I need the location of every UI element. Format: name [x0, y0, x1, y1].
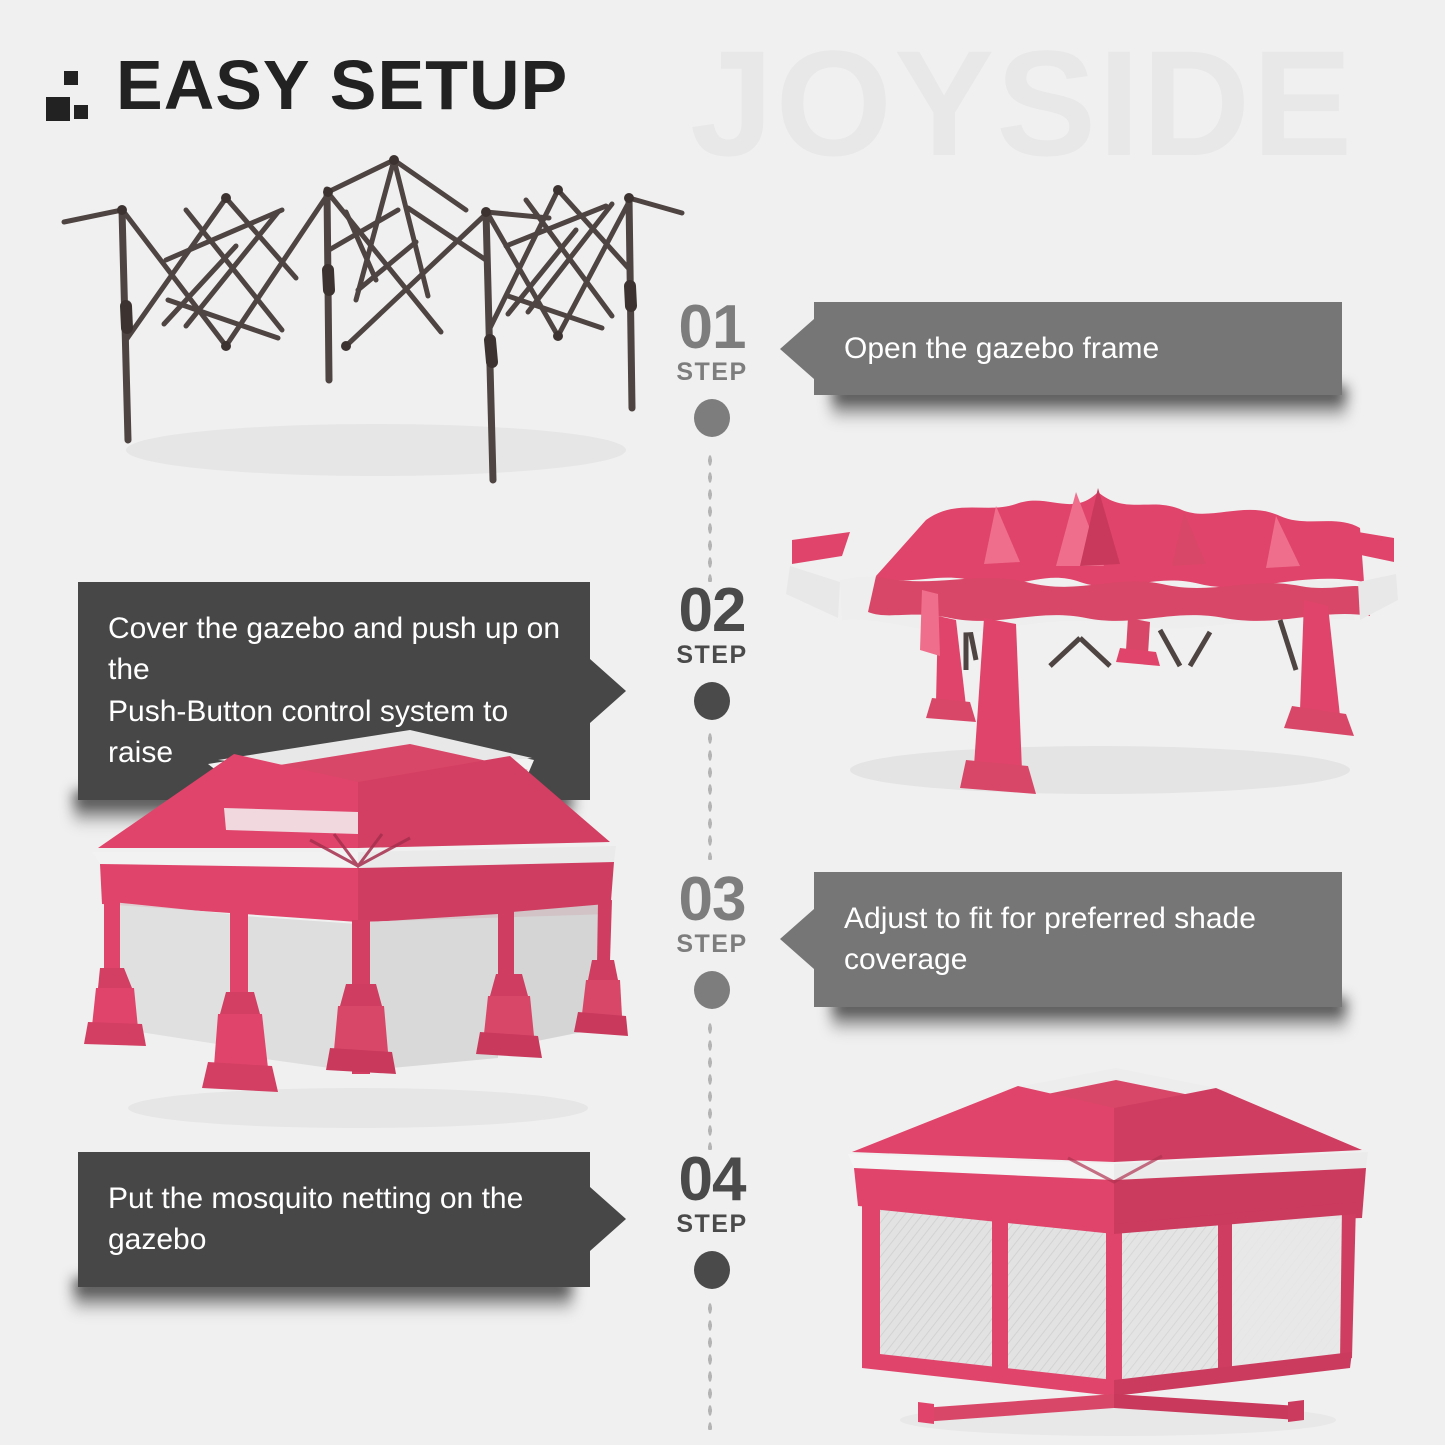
brand-watermark: JOYSIDE: [690, 28, 1354, 178]
callout-text-line-1: Cover the gazebo and push up on the: [108, 612, 560, 686]
callout-body: Adjust to fit for preferred shade covera…: [814, 872, 1342, 1007]
timeline-dots-04-end: [707, 1300, 713, 1430]
gazebo-raised-with-curtains-illustration: [58, 716, 638, 1136]
step-number: 01: [637, 300, 787, 356]
step-label: STEP: [637, 1210, 787, 1239]
step-label: STEP: [637, 930, 787, 959]
step-marker-03: 03 STEP: [637, 872, 787, 1009]
callout-body: Put the mosquito netting on the gazebo: [78, 1152, 590, 1287]
gazebo-canopy-draped-illustration: [780, 470, 1400, 810]
step-bullet: [694, 399, 730, 437]
timeline-dots-01-02: [707, 452, 713, 582]
step-marker-02: 02 STEP: [637, 583, 787, 720]
gazebo-raised-with-curtains-image: [58, 716, 638, 1136]
gazebo-frame-open-image: [46, 150, 686, 490]
step-marker-04: 04 STEP: [637, 1152, 787, 1289]
callout-text: Open the gazebo frame: [844, 328, 1159, 369]
callout-pointer-left-icon: [780, 909, 814, 969]
bar-squares-icon: [46, 65, 94, 119]
gazebo-with-mosquito-netting-illustration: [822, 1058, 1402, 1440]
step-label: STEP: [637, 358, 787, 387]
step-marker-01: 01 STEP: [637, 300, 787, 437]
callout-text: Adjust to fit for preferred shade covera…: [844, 898, 1312, 981]
callout-step-04: Put the mosquito netting on the gazebo: [78, 1152, 590, 1287]
gazebo-canopy-draped-image: [780, 470, 1400, 810]
callout-step-01: Open the gazebo frame: [814, 302, 1342, 395]
infographic-canvas: JOYSIDE EASY SETUP: [0, 0, 1445, 1445]
step-number: 03: [637, 872, 787, 928]
callout-body: Open the gazebo frame: [814, 302, 1342, 395]
callout-pointer-left-icon: [780, 319, 814, 379]
step-bullet: [694, 682, 730, 720]
step-bullet: [694, 1251, 730, 1289]
timeline-dots-02-03: [707, 730, 713, 860]
callout-step-03: Adjust to fit for preferred shade covera…: [814, 872, 1342, 1007]
step-label: STEP: [637, 641, 787, 670]
callout-pointer-right-icon: [590, 659, 626, 723]
timeline-dots-03-04: [707, 1020, 713, 1150]
page-title: EASY SETUP: [116, 52, 568, 119]
page-header: EASY SETUP: [46, 52, 568, 119]
gazebo-frame-open-illustration: [46, 150, 686, 490]
callout-pointer-right-icon: [590, 1187, 626, 1251]
step-number: 02: [637, 583, 787, 639]
step-bullet: [694, 971, 730, 1009]
gazebo-with-mosquito-netting-image: [822, 1058, 1402, 1440]
callout-text: Put the mosquito netting on the gazebo: [108, 1178, 560, 1261]
step-number: 04: [637, 1152, 787, 1208]
